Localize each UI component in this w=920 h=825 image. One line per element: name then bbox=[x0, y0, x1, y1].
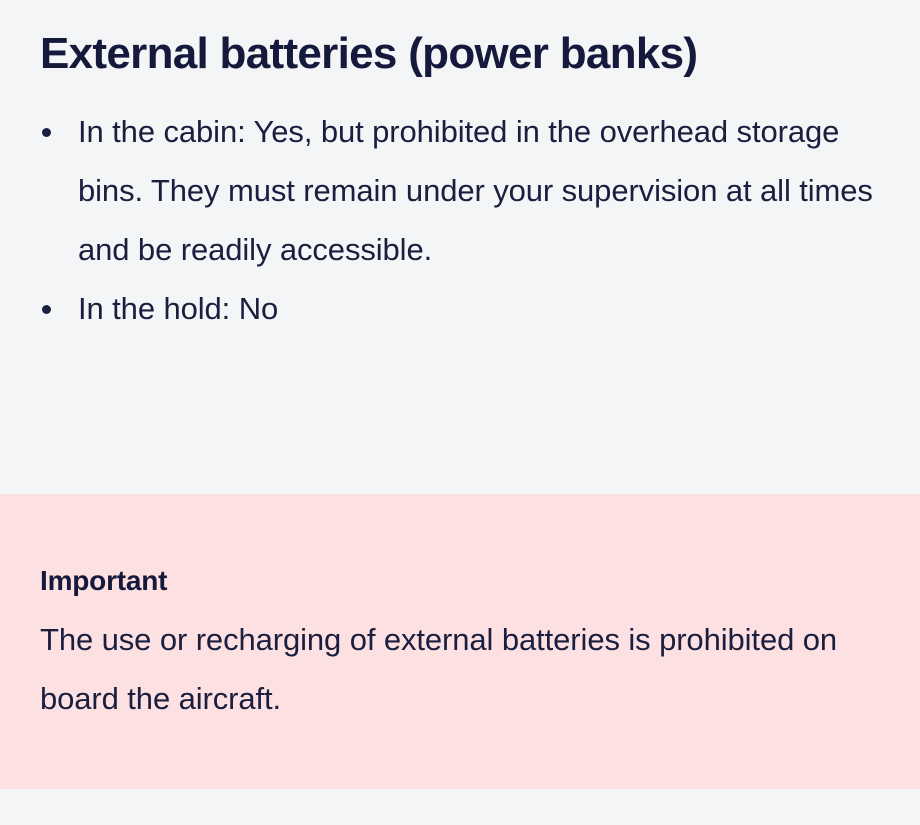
battery-info-section: External batteries (power banks) In the … bbox=[0, 0, 920, 494]
alert-heading: Important bbox=[40, 494, 880, 598]
list-item: In the cabin: Yes, but prohibited in the… bbox=[40, 102, 880, 279]
page-bottom-spacer bbox=[0, 789, 920, 825]
list-item-text: In the hold: No bbox=[78, 291, 278, 326]
bullet-dot-icon bbox=[42, 128, 51, 137]
battery-rules-list: In the cabin: Yes, but prohibited in the… bbox=[40, 80, 880, 338]
article-page: External batteries (power banks) In the … bbox=[0, 0, 920, 825]
bullet-dot-icon bbox=[42, 305, 51, 314]
page-title: External batteries (power banks) bbox=[40, 0, 880, 80]
important-alert-banner: Important The use or recharging of exter… bbox=[0, 494, 920, 789]
list-item: In the hold: No bbox=[40, 279, 880, 338]
alert-body-text: The use or recharging of external batter… bbox=[40, 598, 880, 728]
list-item-text: In the cabin: Yes, but prohibited in the… bbox=[78, 114, 873, 267]
